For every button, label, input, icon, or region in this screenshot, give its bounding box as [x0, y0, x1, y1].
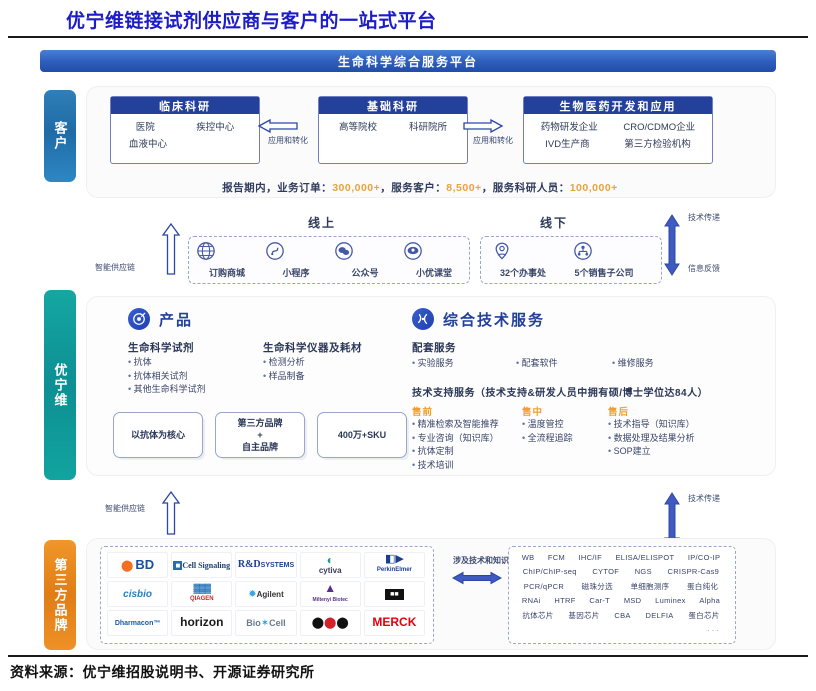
tech-tag[interactable]: 抗体芯片	[522, 610, 553, 621]
stats-prefix: 报告期内，业务订单：	[222, 182, 332, 194]
support-item-1: 实验服务	[412, 357, 454, 371]
list-item: 检测分析	[263, 356, 305, 370]
group-item: IVD生产商	[545, 136, 589, 153]
customer-group-biopharma[interactable]: 生物医药开发和应用 药物研发企业 CRO/CDMO企业 IVD生产商 第三方检验…	[523, 96, 713, 164]
channel-online-mall[interactable]: 订购商城	[196, 241, 258, 281]
source-note: 资料来源：优宁维招股说明书、开源证券研究所	[10, 662, 315, 682]
brand-logo-bd[interactable]: ⬤BD	[107, 552, 168, 578]
feedback-label-top: 信息反馈	[688, 263, 720, 274]
arrow-right-icon	[462, 118, 504, 134]
products-col2-heading: 生命科学仪器及耗材	[263, 340, 362, 355]
group-title: 基础科研	[319, 97, 467, 114]
stats-mid1: ，服务客户：	[380, 182, 446, 194]
tech-tag[interactable]: WB	[522, 553, 535, 562]
tech-tags-more: ···	[515, 626, 727, 635]
brand-logo-origene[interactable]: ⬤⬤⬤	[300, 610, 361, 636]
page-title: 优宁维链接试剂供应商与客户的一站式平台	[66, 6, 437, 33]
group-item: CRO/CDMO企业	[623, 119, 695, 136]
tech-tag[interactable]: CYTOF	[592, 567, 619, 576]
stats-researchers: 100,000+	[570, 182, 618, 194]
tech-tag[interactable]: 基因芯片	[568, 610, 599, 621]
list-item: 技术培训	[412, 459, 499, 473]
section-title: 综合技术服务	[443, 309, 545, 330]
list-item: 专业咨询（知识库）	[412, 432, 499, 446]
highlight-pill[interactable]: 400万+SKU	[317, 412, 407, 458]
supply-chain-label-bottom: 智能供应链	[105, 503, 145, 514]
services-support-heading: 配套服务	[412, 340, 456, 355]
list-item: 抗体	[128, 356, 206, 370]
customer-group-clinical[interactable]: 临床科研 医院 疾控中心 血液中心	[110, 96, 260, 164]
list-item: 配套软件	[516, 357, 558, 371]
tech-tag-row: ChIP/ChIP-seqCYTOFNGSCRISPR-Cas9	[515, 567, 727, 576]
list-item: 维修服务	[612, 357, 654, 371]
tech-tag[interactable]: Car-T	[589, 596, 610, 605]
offline-channels-title: 线下	[540, 214, 568, 231]
list-item: 其他生命科学试剂	[128, 383, 206, 397]
highlight-pill[interactable]: 以抗体为核心	[113, 412, 203, 458]
tech-tag[interactable]: HTRF	[554, 596, 575, 605]
tech-tag-row: 抗体芯片基因芯片CBADELFIA蛋白芯片	[515, 610, 727, 621]
brand-logo-cytiva[interactable]: ◐cytiva	[300, 552, 361, 578]
tech-tag[interactable]: RNAi	[522, 596, 541, 605]
tech-tag[interactable]: IHC/IF	[579, 553, 602, 562]
group-item: 科研院所	[409, 119, 447, 136]
arrow-up-icon	[160, 490, 182, 536]
arrow-leftright-icon	[452, 570, 502, 586]
group-item: 高等院校	[339, 119, 377, 136]
group-item: 第三方检验机构	[624, 136, 691, 153]
customer-stats: 报告期内，业务订单：300,000+，服务客户：8,500+，服务科研人员：10…	[110, 180, 730, 195]
transition-label: 应用和转化	[462, 135, 524, 146]
brand-logo-miltenyi[interactable]: ▲Miltenyi Biotec	[300, 581, 361, 607]
tech-tag[interactable]: 磁珠分选	[582, 581, 613, 592]
stats-orders: 300,000+	[332, 182, 380, 194]
tech-tag-row: WBFCMIHC/IFELISA/ELISPOTIP/CO-IP	[515, 553, 727, 562]
support-item-3: 维修服务	[612, 357, 654, 371]
tech-tag[interactable]: PCR/qPCR	[524, 582, 564, 591]
group-item: 医院	[136, 119, 155, 136]
group-title: 临床科研	[111, 97, 259, 114]
brand-logo-cisbio[interactable]: cisbio	[107, 581, 168, 607]
brand-logo-horizon[interactable]: horizon	[171, 610, 232, 636]
phase-label-insale: 售中	[522, 404, 543, 418]
list-item: 精准检索及智能推荐	[412, 418, 499, 432]
header: 优宁维链接试剂供应商与客户的一站式平台	[0, 0, 816, 40]
channel-offices[interactable]: 32个办事处	[492, 241, 554, 281]
section-services: 综合技术服务	[412, 308, 545, 330]
tech-tag[interactable]: ELISA/ELISPOT	[615, 553, 674, 562]
brand-logo-rnd[interactable]: R&DSYSTEMS	[235, 552, 296, 578]
arrow-up-icon	[160, 222, 182, 276]
brand-logo-agilent[interactable]: ✹Agilent	[235, 581, 296, 607]
location-pin-icon	[492, 241, 554, 261]
tech-tag[interactable]: FCM	[548, 553, 565, 562]
section-products: 产品	[128, 308, 193, 330]
miniprogram-icon	[265, 241, 327, 261]
sidetab-customer[interactable]: 客户	[44, 90, 76, 182]
highlight-pill[interactable]: 第三方品牌 + 自主品牌	[215, 412, 305, 458]
phase-label-presale: 售前	[412, 404, 433, 418]
list-item: 技术指导（知识库）	[608, 418, 695, 432]
brand-logo-bioxcell[interactable]: Bio✶Cell	[235, 610, 296, 636]
list-item: 抗体定制	[412, 445, 499, 459]
supply-chain-arrow-top	[160, 222, 182, 276]
supply-chain-arrow-bottom	[160, 490, 182, 536]
footer-divider	[8, 655, 808, 657]
products-col1-heading: 生命科学试剂	[128, 340, 194, 355]
brand-logo-grid: ⬤BD■Cell SignalingR&DSYSTEMS◐cytiva◧▶Per…	[105, 550, 427, 638]
products-col1-list: 抗体 抗体相关试剂 其他生命科学试剂	[128, 356, 206, 397]
tech-tag[interactable]: DELFIA	[646, 611, 674, 620]
globe-icon	[196, 241, 258, 261]
wechat-icon	[334, 241, 396, 261]
transition-label: 应用和转化	[257, 135, 319, 146]
list-item: 全流程追踪	[522, 432, 573, 446]
tech-tag[interactable]: NGS	[635, 567, 652, 576]
product-highlights: 以抗体为核心 第三方品牌 + 自主品牌 400万+SKU	[113, 412, 413, 458]
phase-insale-list: 温度管控 全流程追踪	[522, 418, 573, 445]
platform-banner: 生命科学综合服务平台	[40, 50, 776, 72]
brand-logo-dharmacon[interactable]: Dharmacon™	[107, 610, 168, 636]
tech-transfer-label-top: 技术传递	[688, 212, 720, 223]
supply-chain-label-top: 智能供应链	[95, 262, 135, 273]
header-divider	[8, 36, 808, 38]
phase-presale-list: 精准检索及智能推荐 专业咨询（知识库） 抗体定制 技术培训	[412, 418, 499, 472]
tech-tag[interactable]: MSD	[624, 596, 642, 605]
channel-label: 订购商城	[209, 268, 245, 278]
phase-label-aftersale: 售后	[608, 404, 629, 418]
group-row: 医院 疾控中心	[115, 119, 255, 136]
tech-tag[interactable]: CRISPR-Cas9	[667, 567, 719, 576]
group-item: 药物研发企业	[541, 119, 598, 136]
tech-tag[interactable]: 单细胞测序	[630, 581, 669, 592]
group-body: 药物研发企业 CRO/CDMO企业 IVD生产商 第三方检验机构	[524, 114, 712, 156]
arrow-updown-icon	[662, 214, 682, 276]
channel-label: 公众号	[351, 268, 378, 278]
group-body: 医院 疾控中心 血液中心	[111, 114, 259, 156]
channel-subsidiaries[interactable]: 5个销售子公司	[573, 241, 635, 281]
tech-feedback-arrow-top	[662, 214, 682, 276]
online-channels-title: 线上	[308, 214, 336, 231]
group-row: IVD生产商 第三方检验机构	[528, 136, 708, 153]
group-row: 血液中心	[115, 136, 255, 153]
org-chart-icon	[573, 241, 635, 261]
transition-left: 应用和转化	[257, 118, 319, 146]
stats-mid2: ，服务科研人员：	[482, 182, 570, 194]
tech-tag-row: RNAiHTRFCar-TMSDLuminexAlpha	[515, 596, 727, 605]
tech-tag[interactable]: ChIP/ChIP-seq	[523, 567, 577, 576]
support-item-2: 配套软件	[516, 357, 558, 371]
list-item: SOP建立	[608, 445, 695, 459]
group-row: 药物研发企业 CRO/CDMO企业	[528, 119, 708, 136]
sidetab-uniwin[interactable]: 优宁维	[44, 290, 76, 480]
channel-label: 32个办事处	[500, 268, 546, 278]
classroom-icon	[403, 241, 465, 261]
brand-logo-perkin[interactable]: ◧▶PerkinElmer	[364, 552, 425, 578]
brand-logo-merck[interactable]: MERCK	[364, 610, 425, 636]
brand-logo-biolegend[interactable]: ■■	[364, 581, 425, 607]
list-item: 抗体相关试剂	[128, 370, 206, 384]
brand-logo-cst[interactable]: ■Cell Signaling	[171, 552, 232, 578]
transition-right: 应用和转化	[462, 118, 524, 146]
channel-label: 小优课堂	[416, 268, 452, 278]
group-row: 高等院校 科研院所	[323, 119, 463, 136]
group-body: 高等院校 科研院所	[319, 114, 467, 139]
tech-tag[interactable]: Alpha	[699, 596, 720, 605]
channel-classroom[interactable]: 小优课堂	[403, 241, 465, 281]
list-item: 实验服务	[412, 357, 454, 371]
section-title: 产品	[159, 309, 193, 330]
tech-tags-grid: WBFCMIHC/IFELISA/ELISPOTIP/CO-IPChIP/ChI…	[511, 549, 731, 639]
group-item: 血液中心	[129, 136, 167, 153]
stats-clients: 8,500+	[446, 182, 481, 194]
gears-icon	[412, 308, 434, 330]
channel-miniprogram[interactable]: 小程序	[265, 241, 327, 281]
sidetab-third-party[interactable]: 第三方品牌	[44, 540, 76, 650]
channel-label: 5个销售子公司	[574, 268, 633, 278]
target-icon	[128, 308, 150, 330]
services-tech-heading: 技术支持服务（技术支持&研发人员中拥有硕/博士学位达84人）	[412, 384, 708, 399]
products-col2-list: 检测分析 样品制备	[263, 356, 305, 383]
tech-tag[interactable]: 蛋白芯片	[688, 610, 719, 621]
list-item: 数据处理及结果分析	[608, 432, 695, 446]
channel-wechat-official[interactable]: 公众号	[334, 241, 396, 281]
phase-aftersale-list: 技术指导（知识库） 数据处理及结果分析 SOP建立	[608, 418, 695, 459]
tech-tag[interactable]: IP/CO-IP	[688, 553, 720, 562]
group-item: 疾控中心	[196, 119, 234, 136]
customer-group-basic-research[interactable]: 基础科研 高等院校 科研院所	[318, 96, 468, 164]
tech-tag[interactable]: Luminex	[655, 596, 685, 605]
tech-tag[interactable]: 蛋白纯化	[687, 581, 718, 592]
tech-tag[interactable]: CBA	[614, 611, 630, 620]
arrow-left-icon	[257, 118, 299, 134]
tech-transfer-label-bottom: 技术传递	[688, 493, 720, 504]
group-title: 生物医药开发和应用	[524, 97, 712, 114]
tech-tag-row: PCR/qPCR磁珠分选单细胞测序蛋白纯化	[515, 581, 727, 592]
list-item: 温度管控	[522, 418, 573, 432]
channel-label: 小程序	[282, 268, 309, 278]
brand-logo-qiagen[interactable]: ▓▓▓QIAGEN	[171, 581, 232, 607]
list-item: 样品制备	[263, 370, 305, 384]
